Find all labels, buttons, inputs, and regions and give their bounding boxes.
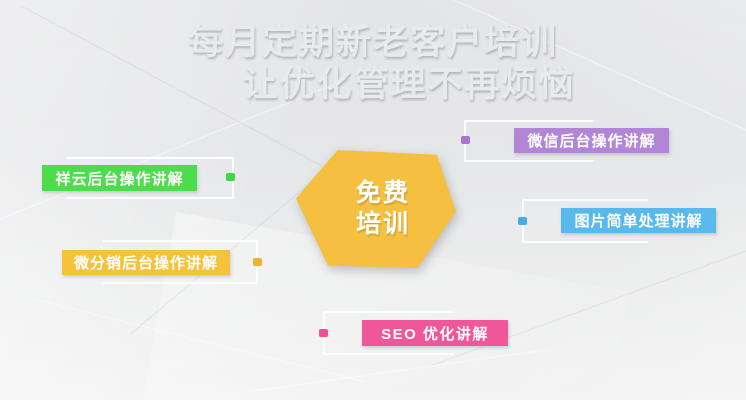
label-weifenxiao[interactable]: 微分销后台操作讲解	[62, 250, 230, 275]
connector-dot-xiangyun	[226, 173, 235, 181]
hexagon-label-line-1: 免费	[356, 178, 410, 209]
label-weixin[interactable]: 微信后台操作讲解	[514, 128, 669, 153]
headline: 每月定期新老客户培训 让优化管理不再烦恼	[0, 22, 746, 106]
hexagon-label: 免费 培训	[296, 150, 456, 268]
connector-dot-weifenxiao	[253, 258, 262, 266]
headline-line-1: 每月定期新老客户培训	[0, 22, 746, 64]
label-xiangyun-text: 祥云后台操作讲解	[55, 168, 183, 189]
connector-dot-seo	[319, 329, 328, 337]
background-crease	[251, 349, 548, 392]
connector-dot-tupian	[518, 217, 527, 225]
label-xiangyun[interactable]: 祥云后台操作讲解	[42, 165, 197, 191]
background-crease	[35, 299, 365, 382]
label-weifenxiao-text: 微分销后台操作讲解	[74, 252, 218, 273]
label-seo[interactable]: SEO 优化讲解	[362, 320, 508, 346]
free-training-hexagon[interactable]: 免费 培训	[296, 150, 456, 268]
label-tupian-text: 图片简单处理讲解	[574, 210, 702, 231]
hexagon-label-line-2: 培训	[356, 209, 410, 240]
label-seo-text: SEO 优化讲解	[381, 323, 489, 344]
training-promo-banner: 每月定期新老客户培训 让优化管理不再烦恼 祥云后台操作讲解 微分销后台操作讲解 …	[0, 0, 746, 400]
label-weixin-text: 微信后台操作讲解	[527, 130, 655, 151]
connector-dot-weixin	[461, 136, 470, 144]
background-crease	[431, 235, 746, 366]
label-tupian[interactable]: 图片简单处理讲解	[561, 208, 716, 233]
headline-line-2: 让优化管理不再烦恼	[0, 64, 746, 106]
